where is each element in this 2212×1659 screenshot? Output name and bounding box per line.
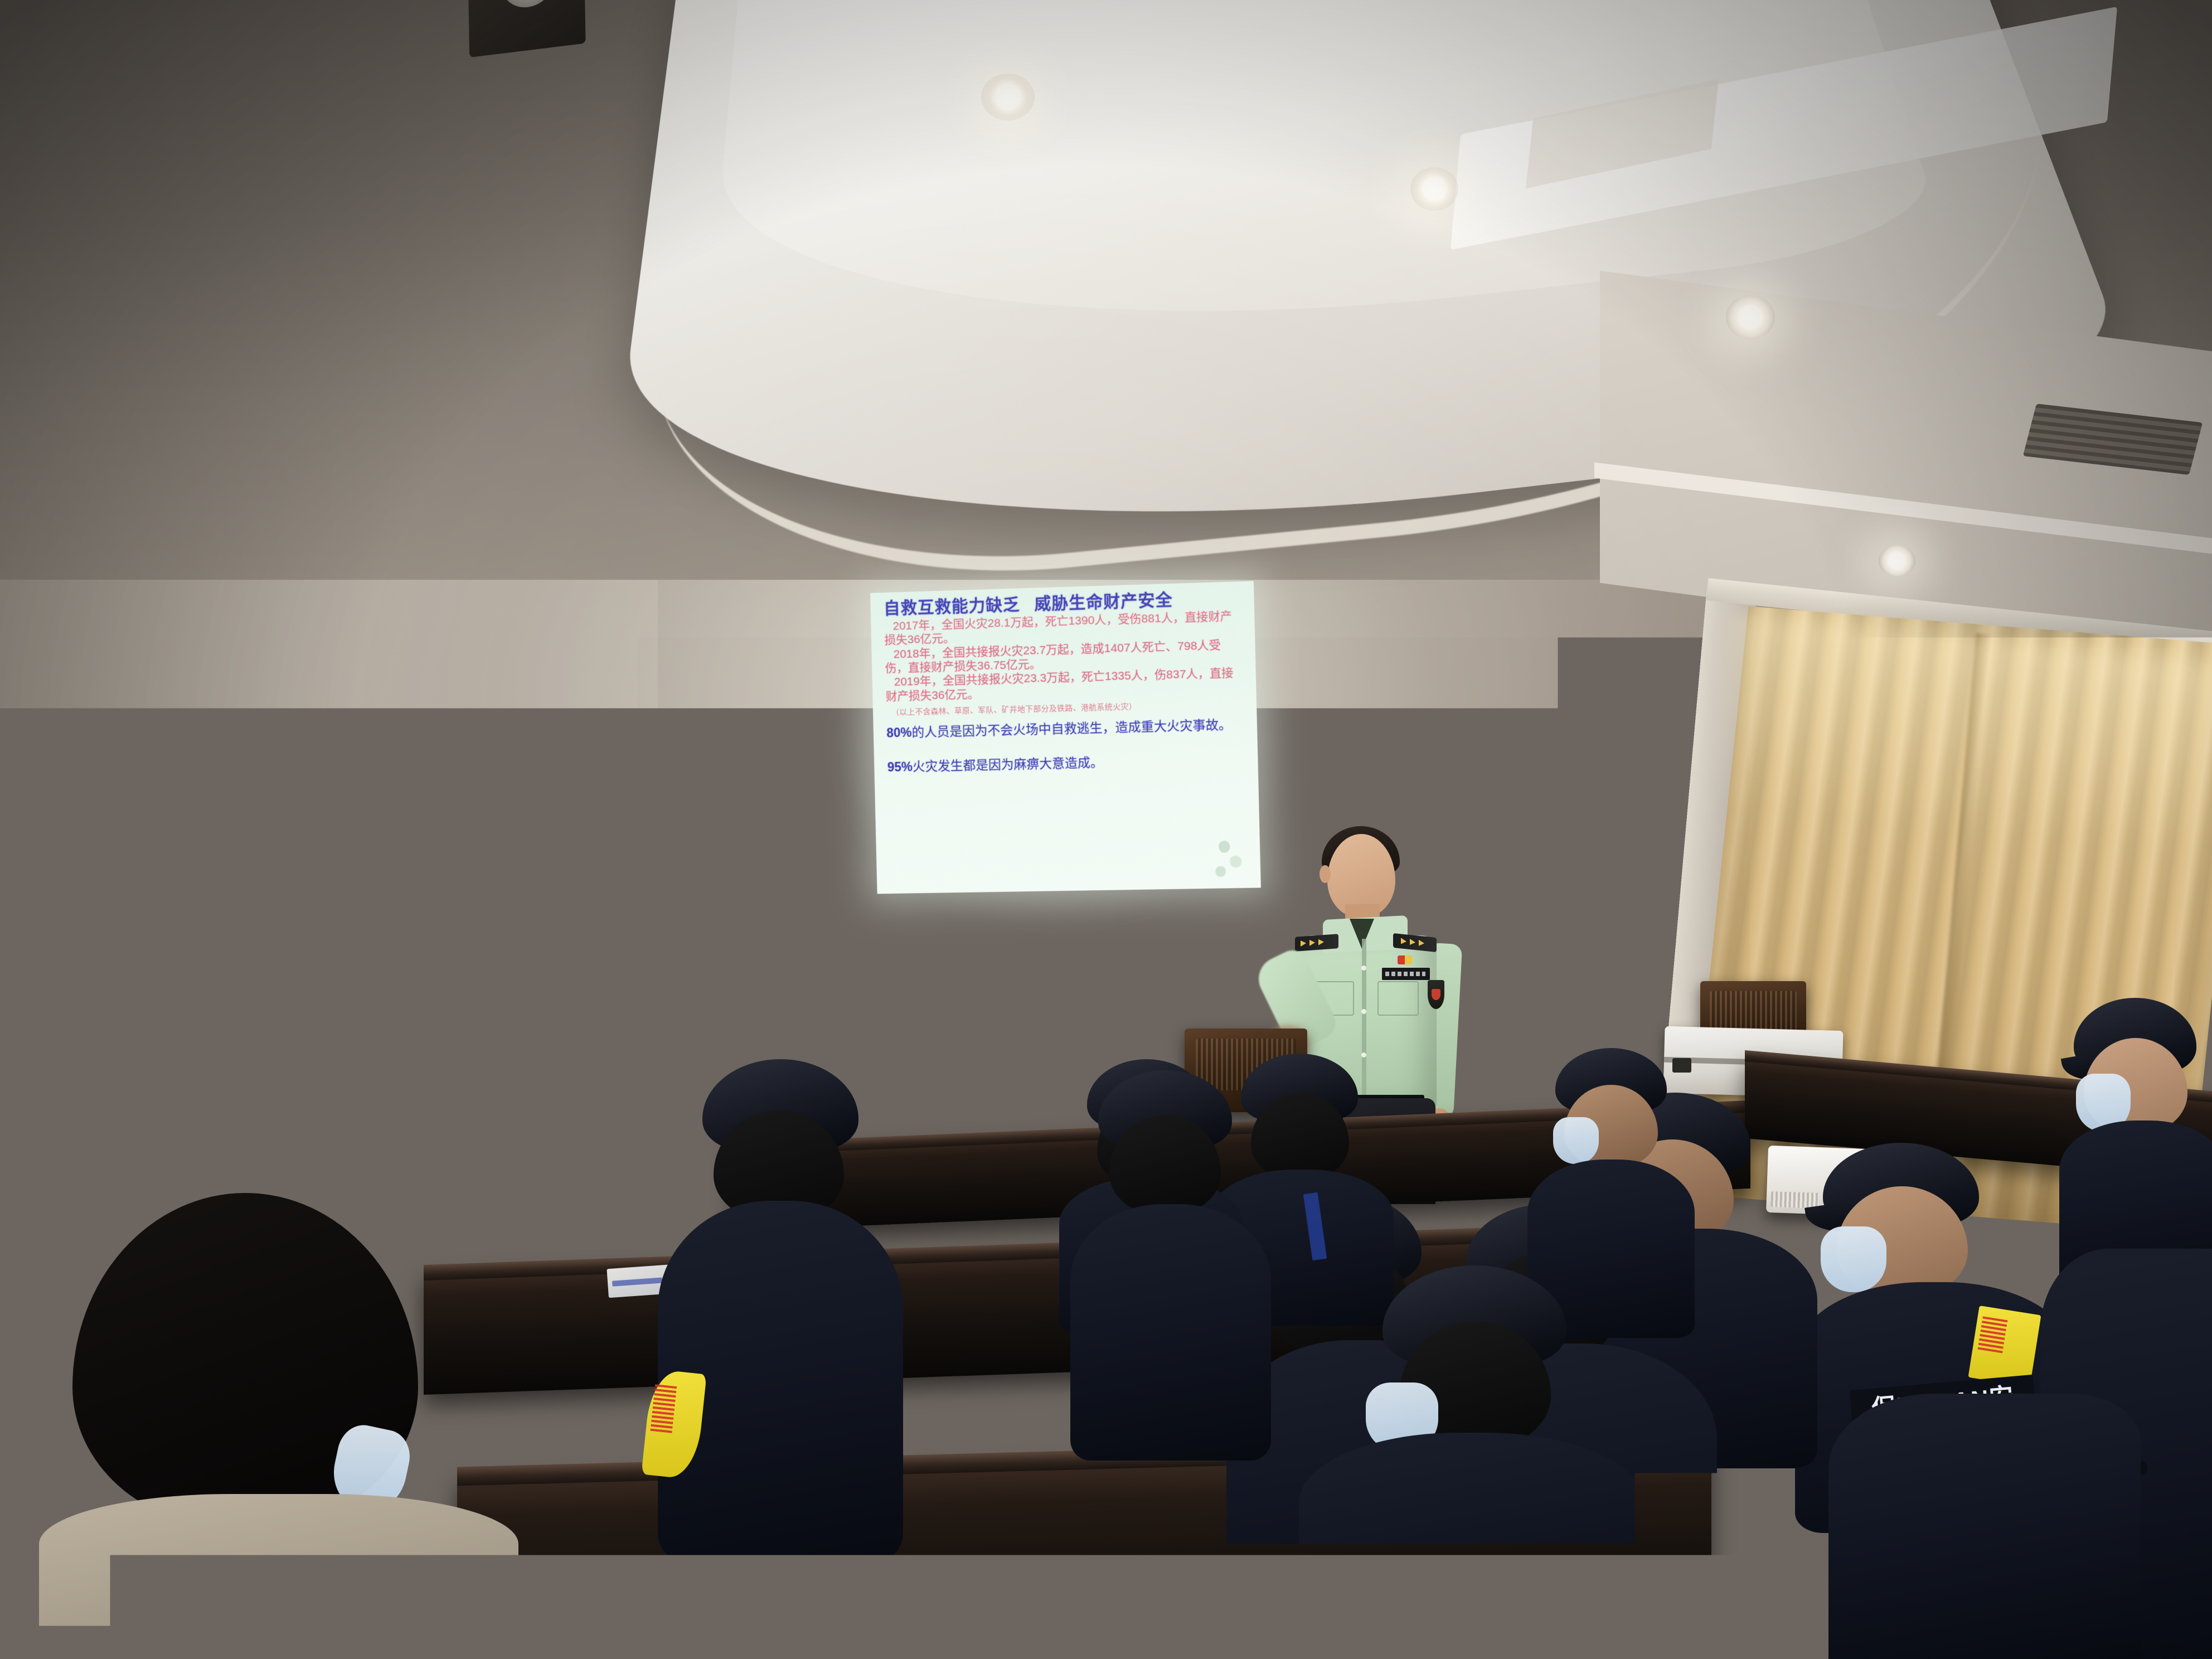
slide-highlight-95-text: 火灾发生都是因为麻痹大意造成。 <box>913 755 1104 774</box>
slide-highlight-80-pct: 80% <box>886 725 912 740</box>
downlight-icon-3 <box>1726 295 1775 339</box>
leaf-watermark-icon <box>1209 834 1251 883</box>
attendee-body <box>1828 1394 2141 1659</box>
presenter-name-tag <box>1382 968 1430 980</box>
attendee-front-right-inner <box>1828 1394 2141 1659</box>
attendee-front-left-mask <box>39 1193 518 1659</box>
attendee-left-cap-row1 <box>1070 1070 1271 1461</box>
attendee-left-cap-front <box>658 1059 903 1561</box>
slide-highlight-80: 80%的人员是因为不会火场中自救逃生，造成重大火灾事故。 <box>886 717 1246 741</box>
presenter-shoulder-patch-icon <box>1428 980 1444 1009</box>
downlight-icon-4 <box>1879 545 1915 576</box>
slide-highlight-95-pct: 95% <box>887 759 913 774</box>
attendee-face-mask <box>1553 1117 1599 1164</box>
meeting-room-scene: 自救互救能力缺乏威胁生命财产安全 2017年，全国火灾28.1万起，死亡1390… <box>0 0 2212 1659</box>
slide-title-left: 自救互救能力缺乏 <box>884 595 1020 618</box>
slide-highlight-95: 95%火灾发生都是因为麻痹大意造成。 <box>887 748 1246 775</box>
chair-back-left[interactable] <box>884 1048 1017 1137</box>
slide-title-right: 威胁生命财产安全 <box>1034 591 1173 614</box>
presenter-pocket-right <box>1377 981 1419 1016</box>
downlight-icon-2 <box>1410 167 1458 211</box>
presenter-button-1 <box>1361 966 1366 971</box>
slide-highlight-80-text: 的人员是因为不会火场中自救逃生，造成重大火灾事故。 <box>911 717 1231 740</box>
attendee-shirt <box>39 1494 518 1659</box>
presenter-ear <box>1320 865 1331 883</box>
water-bottle-label-brand <box>797 1569 847 1609</box>
presenter-emblem-badge-icon <box>1398 955 1412 964</box>
downlight-icon-1 <box>981 74 1035 120</box>
slide-body: 2017年，全国火灾28.1万起，死亡1390人，受伤881人，直接财产损失36… <box>884 609 1247 775</box>
projected-slide: 自救互救能力缺乏威胁生命财产安全 2017年，全国火灾28.1万起，死亡1390… <box>870 581 1261 894</box>
attendee-body <box>1070 1204 1271 1461</box>
presenter-epaulette-left <box>1295 934 1338 951</box>
presenter-button-2 <box>1361 1009 1366 1014</box>
attendee-face-mask <box>1821 1226 1886 1292</box>
